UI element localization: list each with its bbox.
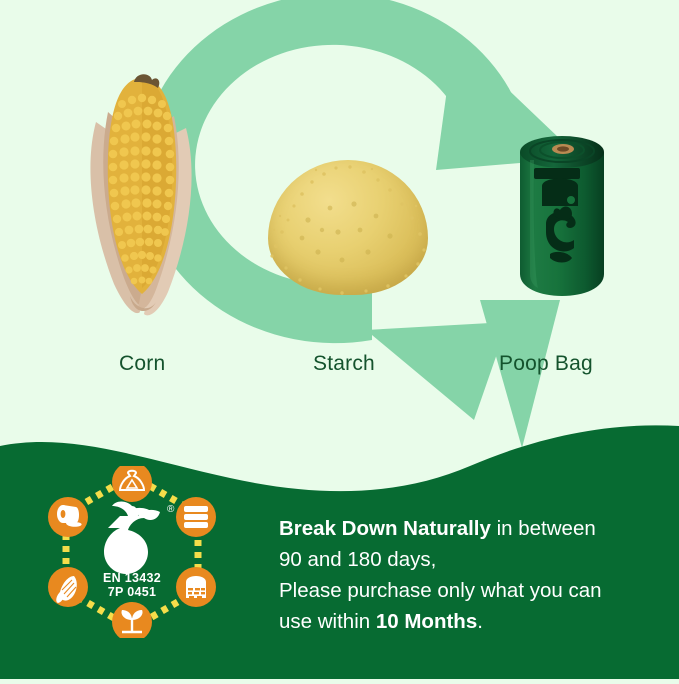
corn-cob-photo: [78, 70, 208, 320]
message-line-4-post: .: [477, 610, 483, 633]
message-line-1: Break Down Naturally in between: [279, 513, 651, 544]
compostable-certification-badge: ®: [46, 466, 218, 638]
bag-roll-icon: [48, 497, 88, 537]
step-label-poop-bag: Poop Bag: [499, 352, 593, 376]
breakdown-emphasis: Break Down Naturally: [279, 517, 491, 540]
message-line-1-rest: in between: [491, 517, 596, 540]
corn-starch-powder-photo: [268, 160, 428, 295]
cert-standard-line-2: 7P 0451: [46, 585, 218, 599]
infographic-canvas: Corn Starch Poop Bag: [0, 0, 679, 679]
months-emphasis: 10 Months: [376, 610, 477, 633]
green-poop-bag-roll-photo: [516, 124, 608, 299]
step-label-corn: Corn: [119, 352, 165, 376]
message-line-4: use within 10 Months.: [279, 606, 651, 637]
message-line-2: 90 and 180 days,: [279, 544, 651, 575]
footer-message: Break Down Naturally in between 90 and 1…: [279, 513, 651, 637]
seedling-sprout-icon: [112, 602, 152, 638]
compostable-bag-icon: [112, 466, 152, 502]
registered-trademark-mark: ®: [167, 504, 175, 515]
message-line-3: Please purchase only what you can: [279, 575, 651, 606]
certification-standard-text: EN 13432 7P 0451: [46, 571, 218, 599]
seedling-compostable-logo: ®: [104, 502, 175, 575]
cert-standard-line-1: EN 13432: [46, 571, 218, 585]
message-line-4-pre: use within: [279, 610, 376, 633]
step-label-starch: Starch: [313, 352, 375, 376]
compost-soil-layers-icon: [176, 497, 216, 537]
